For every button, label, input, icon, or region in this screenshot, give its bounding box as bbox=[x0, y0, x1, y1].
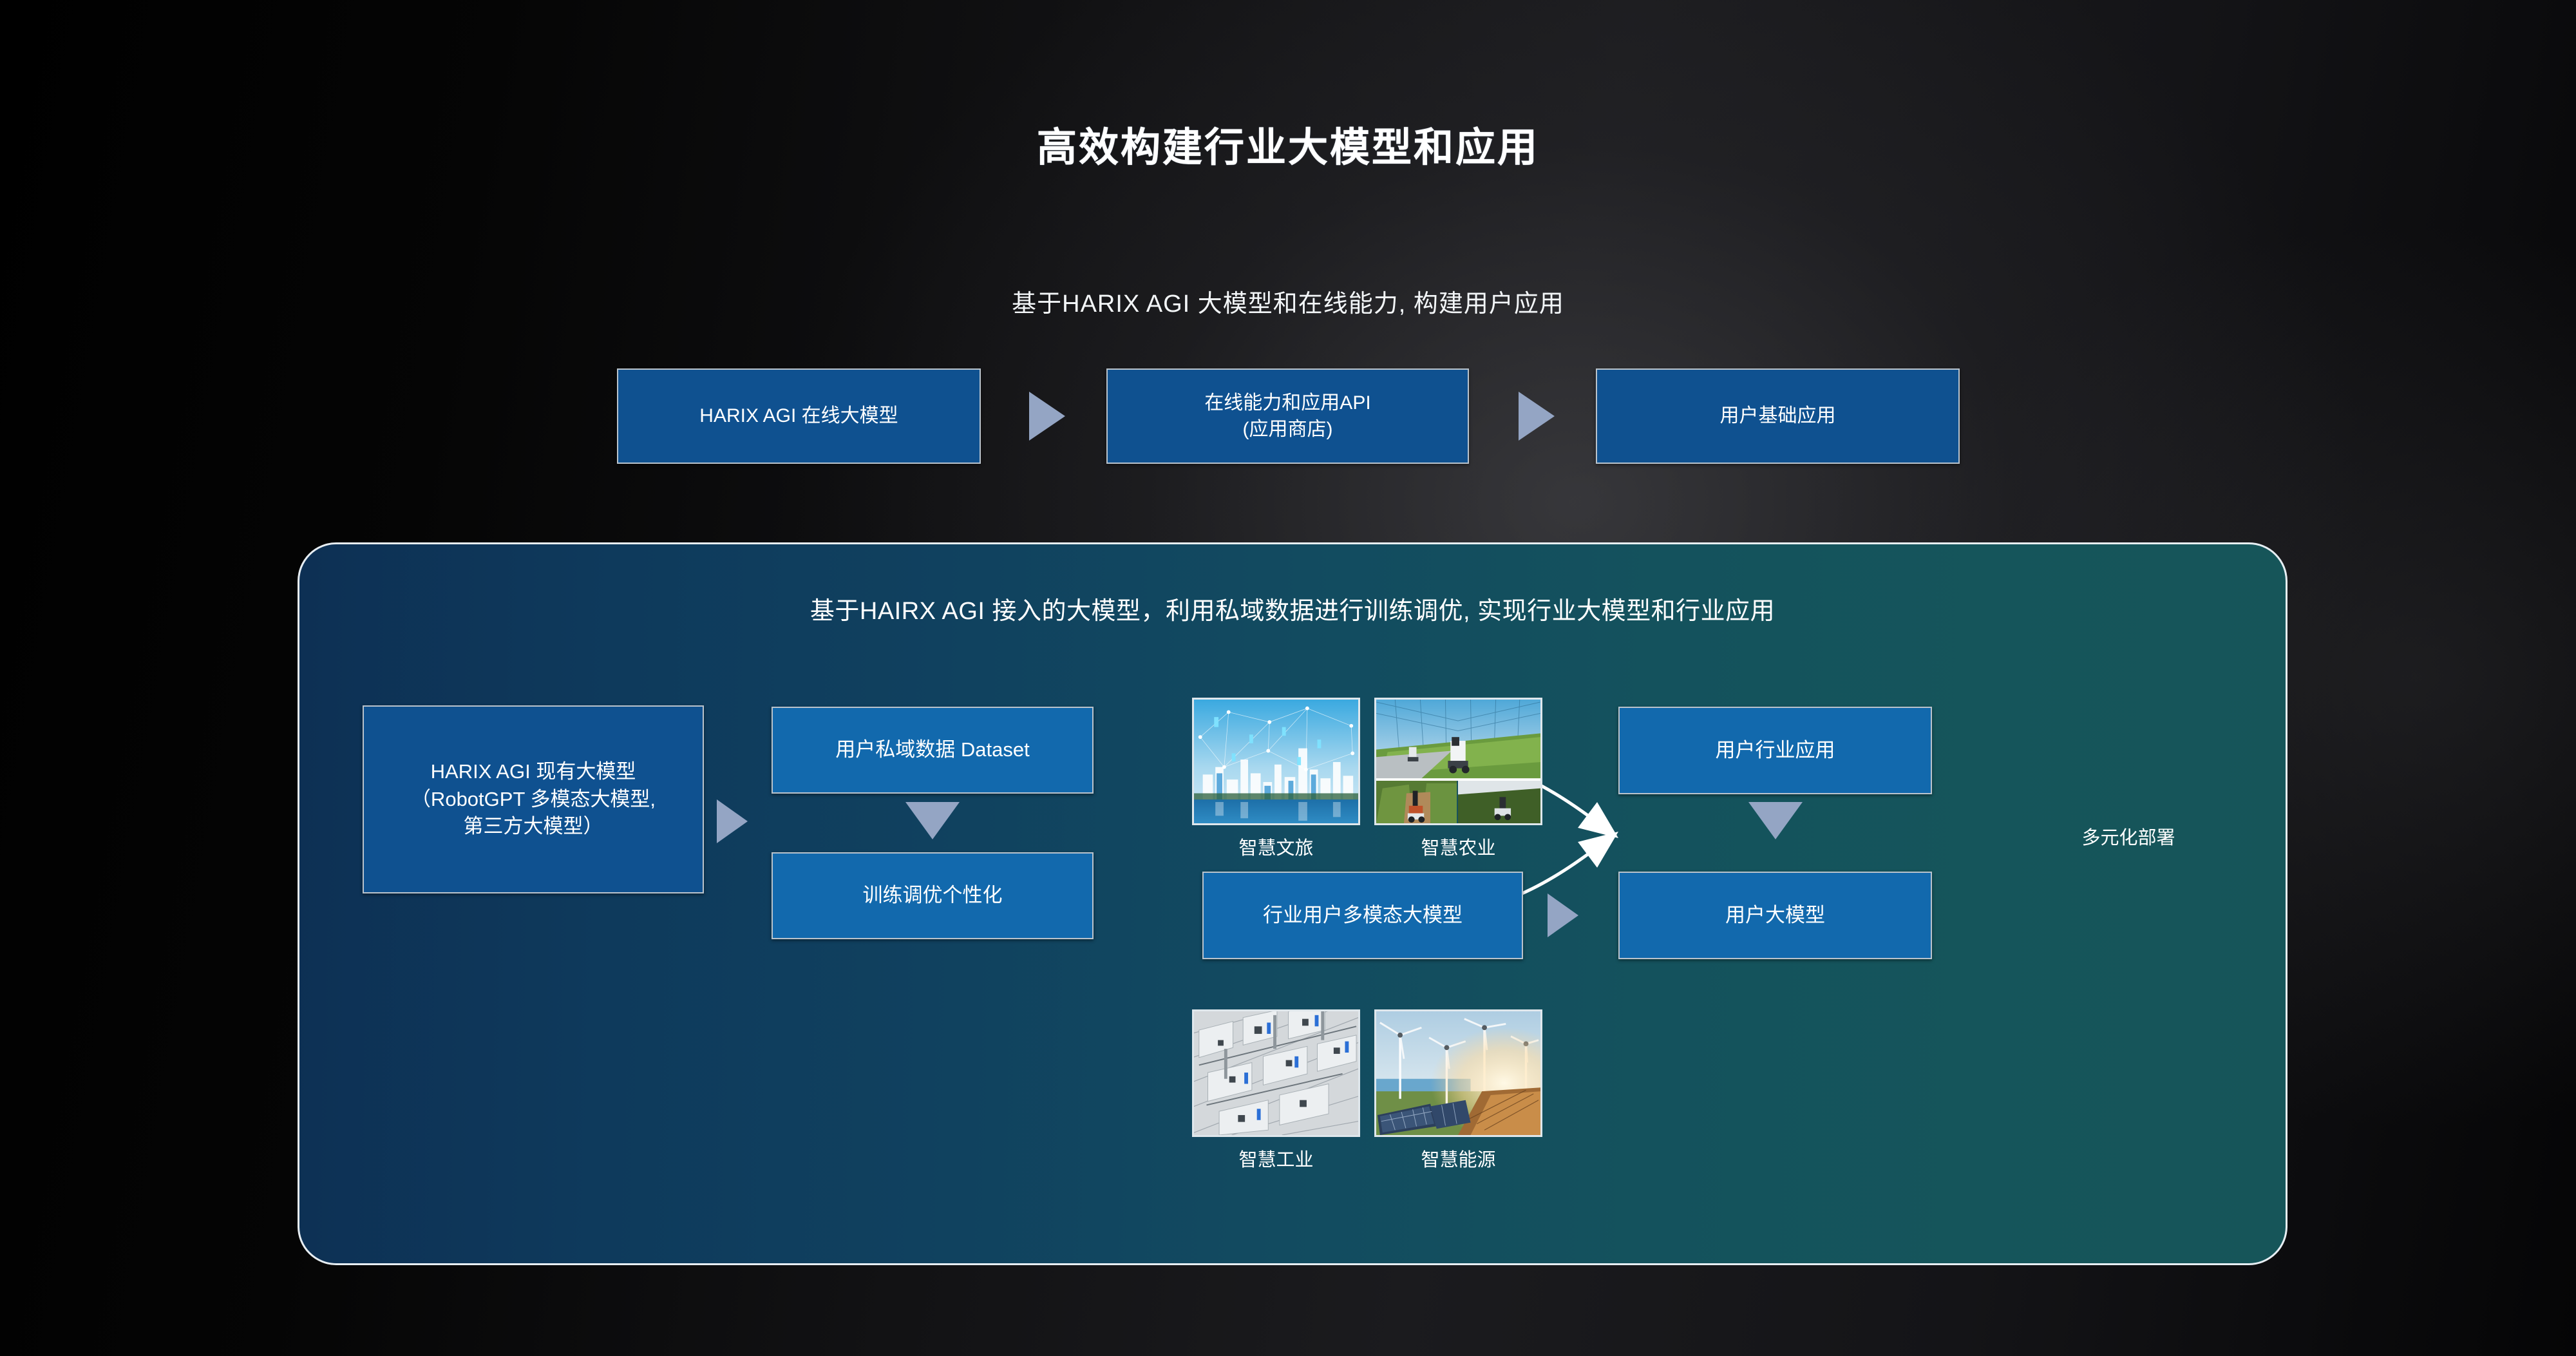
dataset-box-label: 用户私域数据 Dataset bbox=[835, 736, 1029, 764]
scene-caption-smart-energy: 智慧能源 bbox=[1374, 1145, 1542, 1172]
scene-caption-smart-industry: 智慧工业 bbox=[1192, 1145, 1360, 1172]
source-model-line2: （RobotGPT 多模态大模型, bbox=[411, 786, 656, 814]
triangle-right-icon-3 bbox=[717, 799, 748, 843]
smart-city-network-image bbox=[1194, 700, 1358, 823]
scene-thumb-smart-city[interactable] bbox=[1192, 698, 1360, 825]
scene-caption-smart-agriculture: 智慧农业 bbox=[1374, 833, 1542, 860]
triangle-right-icon-2 bbox=[1519, 392, 1555, 441]
training-box[interactable]: 训练调优个性化 bbox=[772, 852, 1094, 939]
scene-caption-smart-energy-text: 智慧能源 bbox=[1421, 1150, 1495, 1170]
triangle-right-icon-1 bbox=[1029, 392, 1065, 441]
page-subtitle: 基于HARIX AGI 大模型和在线能力, 构建用户应用 bbox=[0, 283, 2576, 319]
top-flow-box-1[interactable]: HARIX AGI 在线大模型 bbox=[617, 368, 981, 464]
scene-caption-smart-industry-text: 智慧工业 bbox=[1238, 1150, 1313, 1170]
top-flow-box-3[interactable]: 用户基础应用 bbox=[1596, 368, 1960, 464]
scene-caption-smart-city: 智慧文旅 bbox=[1192, 833, 1360, 860]
industry-multimodal-model-box[interactable]: 行业用户多模态大模型 bbox=[1202, 872, 1523, 959]
top-flow-box-2[interactable]: 在线能力和应用API (应用商店) bbox=[1106, 368, 1469, 464]
scene-caption-smart-agriculture-text: 智慧农业 bbox=[1421, 838, 1495, 859]
triangle-right-icon-4 bbox=[1548, 893, 1578, 937]
smart-energy-wind-solar-image bbox=[1376, 1011, 1540, 1135]
top-flow-box-3-label: 用户基础应用 bbox=[1720, 403, 1836, 429]
source-model-line1: HARIX AGI 现有大模型 bbox=[431, 758, 636, 786]
scene-caption-smart-city-text: 智慧文旅 bbox=[1238, 838, 1313, 859]
user-industry-app-label: 用户行业应用 bbox=[1716, 737, 1835, 765]
training-box-label: 训练调优个性化 bbox=[863, 882, 1003, 910]
source-model-line3: 第三方大模型） bbox=[464, 813, 603, 841]
scene-thumb-smart-energy[interactable] bbox=[1374, 1009, 1542, 1137]
source-model-box[interactable]: HARIX AGI 现有大模型 （RobotGPT 多模态大模型, 第三方大模型… bbox=[363, 705, 704, 893]
triangle-down-icon-2 bbox=[1748, 802, 1803, 839]
page-title: 高效构建行业大模型和应用 bbox=[0, 115, 2576, 173]
industry-model-panel: 基于HAIRX AGI 接入的大模型，利用私域数据进行训练调优, 实现行业大模型… bbox=[298, 542, 2287, 1265]
user-model-box[interactable]: 用户大模型 bbox=[1618, 872, 1932, 959]
industry-multimodal-model-label: 行业用户多模态大模型 bbox=[1263, 902, 1463, 930]
triangle-down-icon-1 bbox=[905, 802, 960, 839]
top-flow-box-1-label: HARIX AGI 在线大模型 bbox=[699, 403, 898, 429]
deployment-label-text: 多元化部署 bbox=[2081, 828, 2175, 848]
smart-industry-factory-image bbox=[1194, 1011, 1358, 1135]
dataset-box[interactable]: 用户私域数据 Dataset bbox=[772, 707, 1094, 794]
top-flow-box-2-label-line1: 在线能力和应用API bbox=[1204, 390, 1370, 416]
top-flow-box-2-label-line2: (应用商店) bbox=[1243, 416, 1333, 443]
panel-heading: 基于HAIRX AGI 接入的大模型，利用私域数据进行训练调优, 实现行业大模型… bbox=[299, 591, 2286, 626]
scene-thumb-smart-industry[interactable] bbox=[1192, 1009, 1360, 1137]
deployment-label: 多元化部署 bbox=[2045, 823, 2212, 850]
user-model-label: 用户大模型 bbox=[1725, 902, 1825, 930]
slide-canvas: 高效构建行业大模型和应用 基于HARIX AGI 大模型和在线能力, 构建用户应… bbox=[0, 0, 2576, 1356]
scene-thumb-smart-agriculture[interactable] bbox=[1374, 698, 1542, 825]
user-industry-app-box[interactable]: 用户行业应用 bbox=[1618, 707, 1932, 794]
smart-agriculture-robots-image bbox=[1376, 700, 1540, 823]
